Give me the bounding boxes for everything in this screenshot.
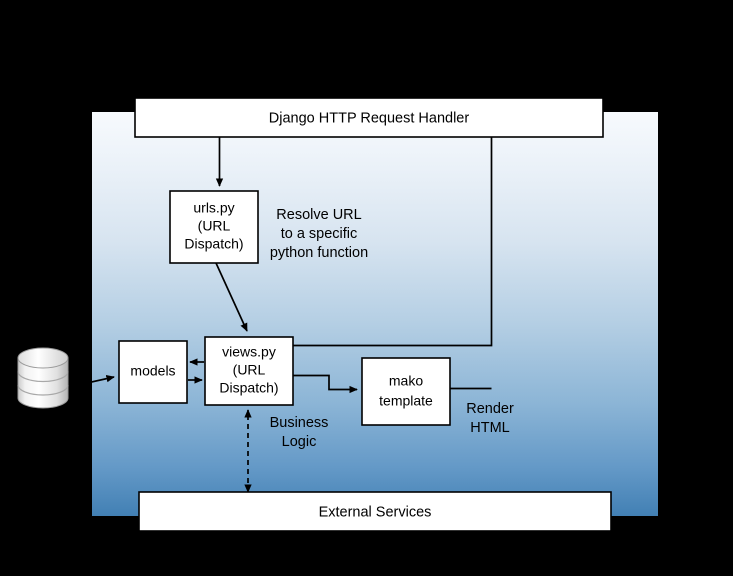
node-urls-py-label-line1: urls.py xyxy=(193,200,234,216)
node-external-services-label: External Services xyxy=(319,504,432,520)
annotation-render-html-line1: Render xyxy=(466,401,514,417)
request-flow-panel xyxy=(92,112,658,516)
diagram-canvas: Django HTTP Request Handler urls.py (URL… xyxy=(0,0,733,576)
node-django-http-request-handler[interactable]: Django HTTP Request Handler xyxy=(135,98,603,137)
node-views-py-label-line1: views.py xyxy=(222,344,276,360)
node-urls-py-label-line2: (URL xyxy=(198,218,231,234)
database-cylinder-icon xyxy=(18,348,68,408)
node-models[interactable]: models xyxy=(119,341,187,403)
node-external-services[interactable]: External Services xyxy=(139,492,611,531)
annotation-resolve-url: Resolve URL to a specific python functio… xyxy=(270,207,368,261)
annotation-resolve-url-line1: Resolve URL xyxy=(276,207,361,223)
annotation-resolve-url-line3: python function xyxy=(270,245,368,261)
node-models-label: models xyxy=(130,363,175,379)
node-views-py-label-line2: (URL xyxy=(233,362,266,378)
django-request-flow-diagram: Django HTTP Request Handler urls.py (URL… xyxy=(0,0,733,576)
node-django-http-request-handler-label: Django HTTP Request Handler xyxy=(269,110,470,126)
annotation-resolve-url-line2: to a specific xyxy=(281,226,358,242)
annotation-business-logic-line2: Logic xyxy=(282,434,317,450)
annotation-render-html-line2: HTML xyxy=(470,420,509,436)
node-mako-template[interactable]: mako template xyxy=(362,358,450,425)
annotation-business-logic-line1: Business xyxy=(270,415,329,431)
node-views-py-label-line3: Dispatch) xyxy=(219,380,278,396)
node-mako-template-label-line2: template xyxy=(379,393,433,409)
node-mako-template-label-line1: mako xyxy=(389,373,423,389)
node-urls-py-label-line3: Dispatch) xyxy=(184,236,243,252)
node-urls-py[interactable]: urls.py (URL Dispatch) xyxy=(170,191,258,263)
node-views-py[interactable]: views.py (URL Dispatch) xyxy=(205,337,293,405)
